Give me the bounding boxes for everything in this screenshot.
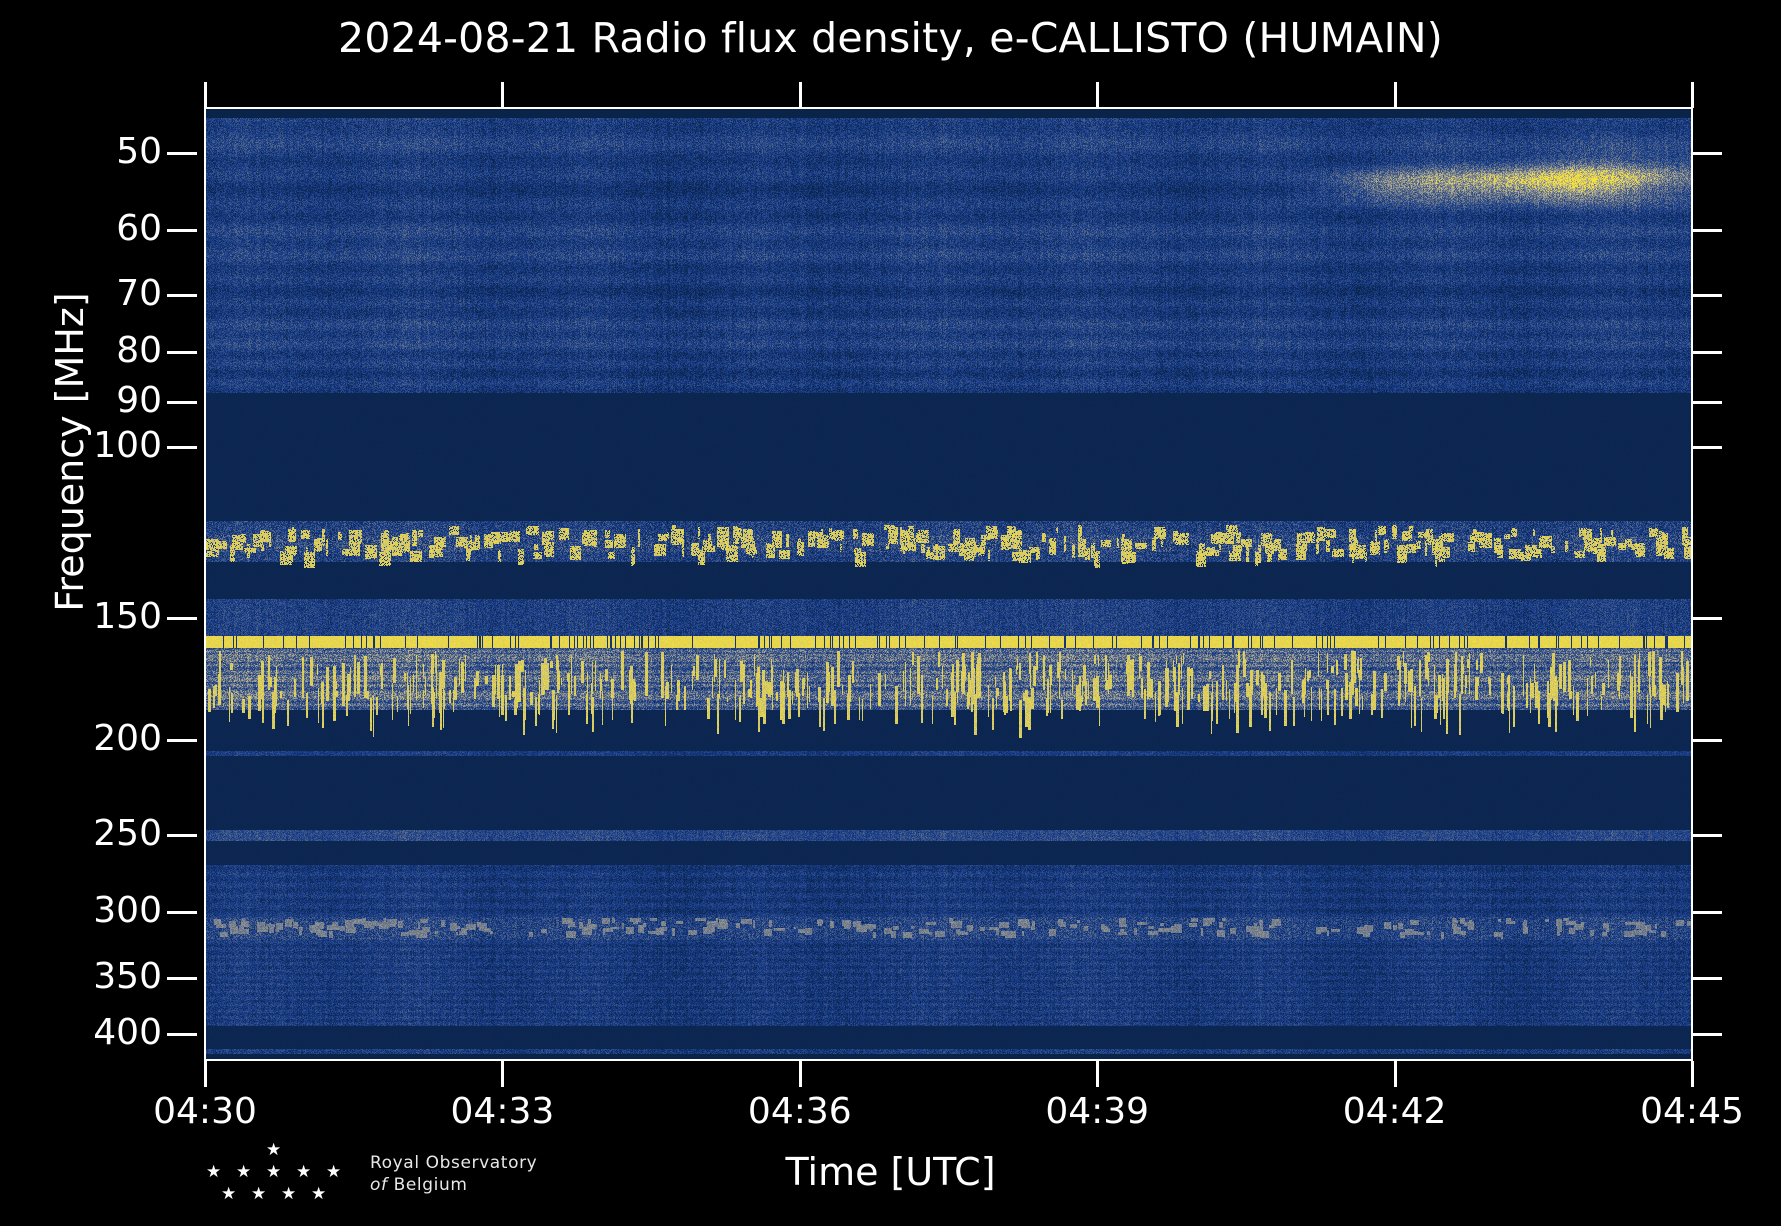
star-icon: ★ <box>221 1186 236 1203</box>
x-tick-04:30 <box>204 1061 207 1087</box>
y-tick-label-70: 70 <box>116 276 162 312</box>
x-tick-label-04:30: 04:30 <box>153 1092 257 1132</box>
x-tick-label-04:45: 04:45 <box>1640 1092 1744 1132</box>
y-tick-right-80 <box>1692 351 1722 354</box>
y-tick-300 <box>167 911 197 914</box>
logo-line-2: of Belgium <box>370 1174 537 1196</box>
star-icon: ★ <box>206 1164 221 1181</box>
spectrogram-figure: 2024-08-21 Radio flux density, e-CALLIST… <box>0 0 1781 1226</box>
star-icon: ★ <box>236 1164 251 1181</box>
x-tick-top-04:42 <box>1394 82 1397 108</box>
x-tick-label-04:36: 04:36 <box>748 1092 852 1132</box>
y-tick-label-100: 100 <box>93 428 162 464</box>
y-tick-right-100 <box>1692 446 1722 449</box>
star-icon: ★ <box>311 1186 326 1203</box>
x-tick-04:36 <box>799 1061 802 1087</box>
x-tick-top-04:36 <box>799 82 802 108</box>
x-tick-label-04:33: 04:33 <box>451 1092 555 1132</box>
y-tick-right-250 <box>1692 834 1722 837</box>
y-tick-50 <box>167 152 197 155</box>
y-tick-right-300 <box>1692 911 1722 914</box>
y-tick-250 <box>167 834 197 837</box>
stars-icon: ★★★★★★★★★★ <box>178 1142 358 1204</box>
y-tick-label-80: 80 <box>116 333 162 369</box>
x-tick-label-04:39: 04:39 <box>1045 1092 1149 1132</box>
y-tick-right-60 <box>1692 229 1722 232</box>
page-title: 2024-08-21 Radio flux density, e-CALLIST… <box>0 14 1781 62</box>
y-tick-right-90 <box>1692 401 1722 404</box>
spectrogram-plot-area <box>205 108 1692 1060</box>
x-tick-04:45 <box>1691 1061 1694 1087</box>
y-tick-label-90: 90 <box>116 383 162 419</box>
y-tick-label-200: 200 <box>93 721 162 757</box>
y-tick-400 <box>167 1033 197 1036</box>
y-tick-label-250: 250 <box>93 816 162 852</box>
y-tick-60 <box>167 229 197 232</box>
x-tick-04:33 <box>501 1061 504 1087</box>
logo-text: Royal Observatory of Belgium <box>370 1152 537 1196</box>
y-tick-label-350: 350 <box>93 959 162 995</box>
x-tick-04:42 <box>1394 1061 1397 1087</box>
x-tick-top-04:30 <box>204 82 207 108</box>
y-tick-150 <box>167 617 197 620</box>
x-tick-04:39 <box>1096 1061 1099 1087</box>
y-tick-label-50: 50 <box>116 134 162 170</box>
logo-of-word: of <box>370 1175 388 1195</box>
royal-observatory-logo: ★★★★★★★★★★ Royal Observatory of Belgium <box>178 1142 598 1216</box>
y-tick-350 <box>167 977 197 980</box>
y-tick-right-200 <box>1692 739 1722 742</box>
y-axis-label: Frequency [MHz] <box>48 272 92 632</box>
star-icon: ★ <box>281 1186 296 1203</box>
y-tick-70 <box>167 294 197 297</box>
star-icon: ★ <box>266 1142 281 1159</box>
y-tick-label-300: 300 <box>93 893 162 929</box>
x-tick-top-04:45 <box>1691 82 1694 108</box>
star-icon: ★ <box>251 1186 266 1203</box>
x-tick-top-04:39 <box>1096 82 1099 108</box>
y-tick-right-50 <box>1692 152 1722 155</box>
spectrogram-canvas <box>205 108 1692 1060</box>
y-tick-right-350 <box>1692 977 1722 980</box>
y-tick-right-150 <box>1692 617 1722 620</box>
star-icon: ★ <box>296 1164 311 1181</box>
y-tick-label-400: 400 <box>93 1015 162 1051</box>
y-tick-200 <box>167 739 197 742</box>
y-tick-90 <box>167 401 197 404</box>
star-icon: ★ <box>266 1164 281 1181</box>
y-tick-80 <box>167 351 197 354</box>
logo-country: Belgium <box>394 1175 468 1195</box>
y-tick-right-400 <box>1692 1033 1722 1036</box>
x-tick-label-04:42: 04:42 <box>1343 1092 1447 1132</box>
y-tick-label-150: 150 <box>93 599 162 635</box>
logo-line-1: Royal Observatory <box>370 1152 537 1174</box>
y-tick-label-60: 60 <box>116 211 162 247</box>
x-tick-top-04:33 <box>501 82 504 108</box>
y-tick-right-70 <box>1692 294 1722 297</box>
star-icon: ★ <box>326 1164 341 1181</box>
y-tick-100 <box>167 446 197 449</box>
